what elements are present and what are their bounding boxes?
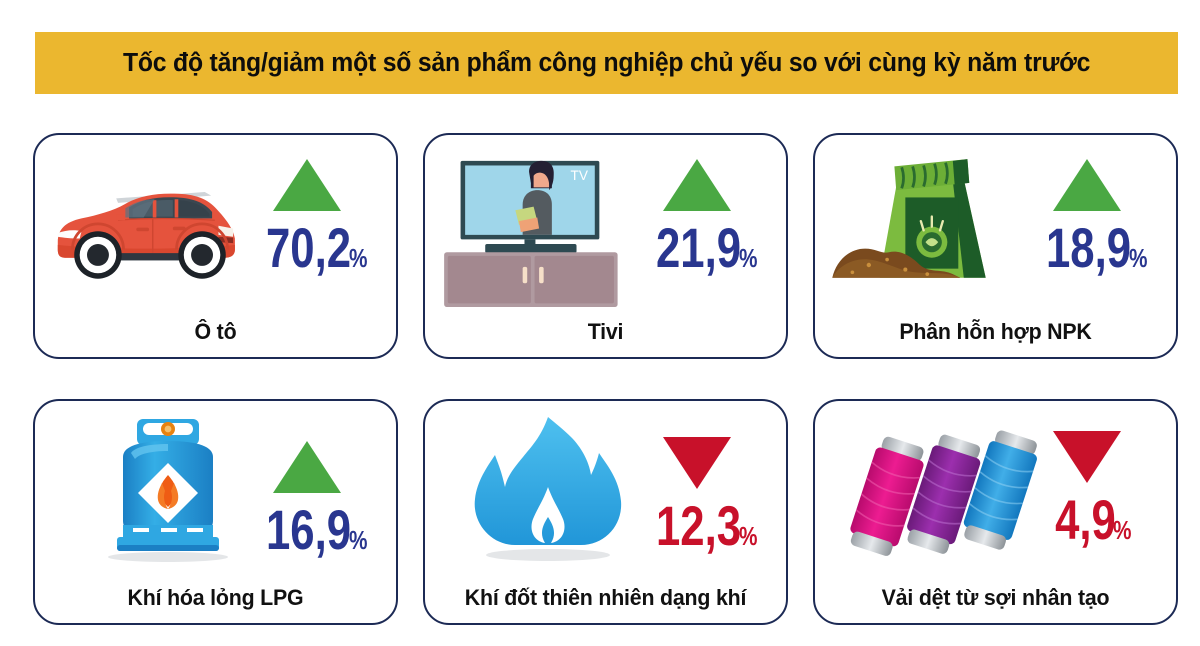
infographic-page: Tốc độ tăng/giảm một số sản phẩm công ng… [0,0,1200,646]
triangle-up-icon [273,441,341,493]
stat-number: 16,9 [266,503,351,556]
page-title: Tốc độ tăng/giảm một số sản phẩm công ng… [123,49,1090,78]
fertilizer-bag-icon [825,143,1035,303]
card-label-tv: Tivi [430,319,780,345]
stat-value-textile: 4,9 % [1038,493,1137,546]
stat-value-group-tv: 21,9 % [622,159,772,274]
stat-value-npk: 18,9 % [1022,221,1152,274]
stat-card-natural-gas[interactable]: 12,3 % Khí đốt thiên nhiên dạng khí [423,399,788,625]
percent-sign: % [349,528,368,553]
card-label-natural-gas: Khí đốt thiên nhiên dạng khí [430,585,780,611]
card-label-car: Ô tô [40,319,390,345]
stat-value-group-natural-gas: 12,3 % [622,437,772,552]
stat-value-tv: 21,9 % [632,221,762,274]
stat-card-grid: 70,2 % Ô tô [33,133,1178,625]
percent-sign: % [739,246,758,271]
percent-sign: % [349,246,368,271]
stat-number: 70,2 [266,221,351,274]
stat-value-group-car: 70,2 % [232,159,382,274]
car-icon [45,143,255,303]
tv-screen-label: TV [571,168,589,183]
triangle-up-icon [1053,159,1121,211]
card-label-npk: Phân hỗn hợp NPK [820,319,1170,345]
card-label-lpg: Khí hóa lỏng LPG [40,585,390,611]
stat-value-group-lpg: 16,9 % [232,441,382,556]
stat-number: 12,3 [656,499,741,552]
television-icon: TV [435,143,645,303]
stat-value-lpg: 16,9 % [242,503,372,556]
percent-sign: % [1113,518,1132,543]
triangle-down-icon [1053,431,1121,483]
stat-value-group-textile: 4,9 % [1012,431,1162,546]
page-title-bar: Tốc độ tăng/giảm một số sản phẩm công ng… [35,32,1178,94]
stat-number: 18,9 [1046,221,1131,274]
triangle-down-icon [663,437,731,489]
triangle-up-icon [273,159,341,211]
stat-number: 21,9 [656,221,741,274]
stat-card-textile[interactable]: 4,9 % Vải dệt từ sợi nhân tạo [813,399,1178,625]
percent-sign: % [739,524,758,549]
stat-number: 4,9 [1055,493,1116,546]
stat-card-npk[interactable]: 18,9 % Phân hỗn hợp NPK [813,133,1178,359]
percent-sign: % [1129,246,1148,271]
stat-value-group-npk: 18,9 % [1012,159,1162,274]
stat-card-tv[interactable]: TV 21,9 % Tivi [423,133,788,359]
stat-card-car[interactable]: 70,2 % Ô tô [33,133,398,359]
stat-card-lpg[interactable]: 16,9 % Khí hóa lỏng LPG [33,399,398,625]
card-label-textile: Vải dệt từ sợi nhân tạo [820,585,1170,611]
triangle-up-icon [663,159,731,211]
stat-value-car: 70,2 % [242,221,372,274]
stat-value-natural-gas: 12,3 % [632,499,762,552]
